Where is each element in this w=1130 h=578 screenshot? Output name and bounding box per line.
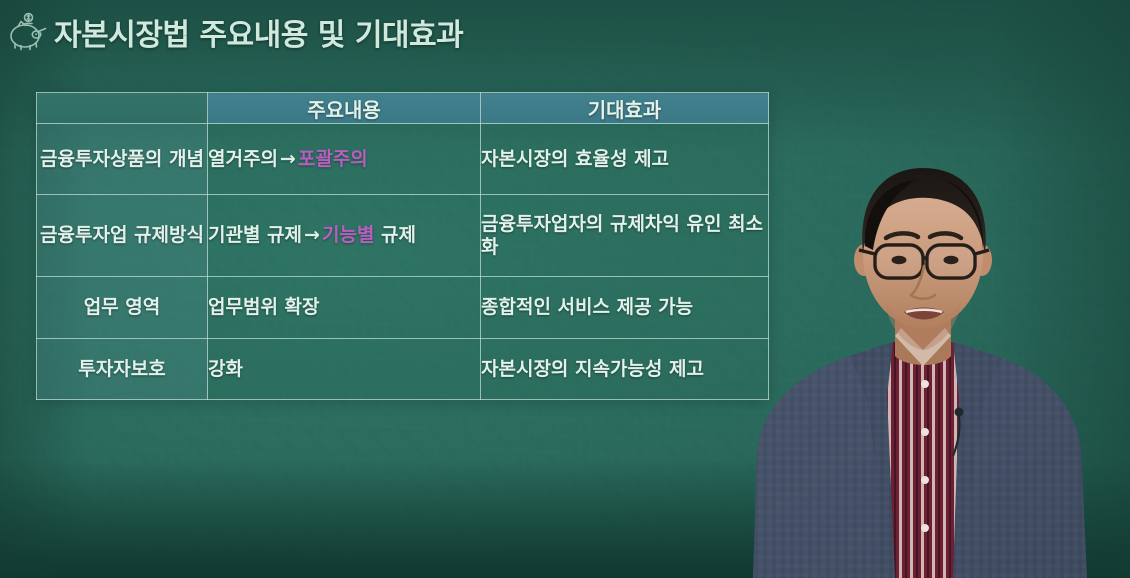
row-main-content: 열거주의→포괄주의	[208, 124, 481, 195]
slide-title-bar: 자본시장법 주요내용 및 기대효과	[6, 10, 463, 54]
board-right-vignette	[990, 0, 1130, 578]
highlight-text: 기능별	[322, 224, 374, 246]
main-text-before: 기관별 규제	[208, 224, 302, 246]
arrow-glyph	[320, 296, 324, 318]
row-label-business-scope: 업무 영역	[37, 277, 208, 339]
table-row: 금융투자상품의 개념 열거주의→포괄주의 자본시장의 효율성 제고	[37, 124, 769, 195]
lecture-video-frame: 자본시장법 주요내용 및 기대효과 주요내용 기대효과 금융투자상품의 개념 열…	[0, 0, 1130, 578]
column-header-blank	[37, 93, 208, 124]
row-expected-effect: 종합적인 서비스 제공 가능	[481, 277, 769, 339]
column-header-main-content: 주요내용	[208, 93, 481, 124]
row-label-investor-protection: 투자자보호	[37, 339, 208, 400]
row-main-content: 강화	[208, 339, 481, 400]
table-header: 주요내용 기대효과	[37, 93, 769, 124]
highlight-text: 포괄주의	[298, 148, 368, 170]
table-row: 금융투자업 규제방식 기관별 규제→기능별 규제 금융투자업자의 규제차익 유인…	[37, 195, 769, 277]
row-expected-effect: 금융투자업자의 규제차익 유인 최소화	[481, 195, 769, 277]
row-label-regulation-method: 금융투자업 규제방식	[37, 195, 208, 277]
main-text-after: 규제	[374, 224, 416, 246]
piggy-bank-icon	[6, 11, 50, 53]
table-row: 업무 영역 업무범위 확장 종합적인 서비스 제공 가능	[37, 277, 769, 339]
board-bottom-vignette	[0, 458, 1130, 578]
row-main-content: 업무범위 확장	[208, 277, 481, 339]
main-text-before: 열거주의	[208, 148, 278, 170]
column-header-expected-effect: 기대효과	[481, 93, 769, 124]
page-title: 자본시장법 주요내용 및 기대효과	[54, 10, 463, 54]
arrow-glyph	[243, 358, 247, 380]
row-label-financial-investment-product: 금융투자상품의 개념	[37, 124, 208, 195]
table-body: 금융투자상품의 개념 열거주의→포괄주의 자본시장의 효율성 제고 금융투자업 …	[37, 124, 769, 400]
table-row: 투자자보호 강화 자본시장의 지속가능성 제고	[37, 339, 769, 400]
arrow-glyph: →	[302, 224, 322, 246]
arrow-glyph: →	[278, 148, 298, 170]
content-table: 주요내용 기대효과 금융투자상품의 개념 열거주의→포괄주의 자본시장의 효율성…	[36, 92, 769, 400]
row-expected-effect: 자본시장의 지속가능성 제고	[481, 339, 769, 400]
row-main-content: 기관별 규제→기능별 규제	[208, 195, 481, 277]
table-header-row: 주요내용 기대효과	[37, 93, 769, 124]
main-text-before: 강화	[208, 358, 243, 380]
main-text-before: 업무범위 확장	[208, 296, 320, 318]
row-expected-effect: 자본시장의 효율성 제고	[481, 124, 769, 195]
